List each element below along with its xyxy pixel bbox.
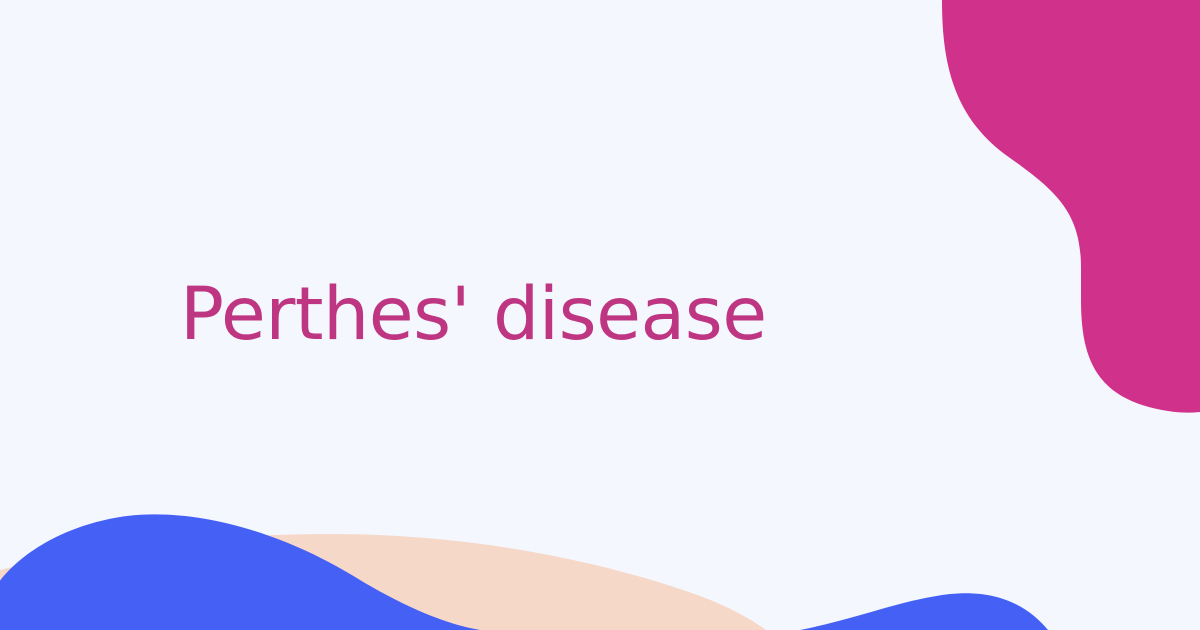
decorative-blob-artwork	[0, 0, 1200, 630]
social-card-canvas: Perthes' disease	[0, 0, 1200, 630]
